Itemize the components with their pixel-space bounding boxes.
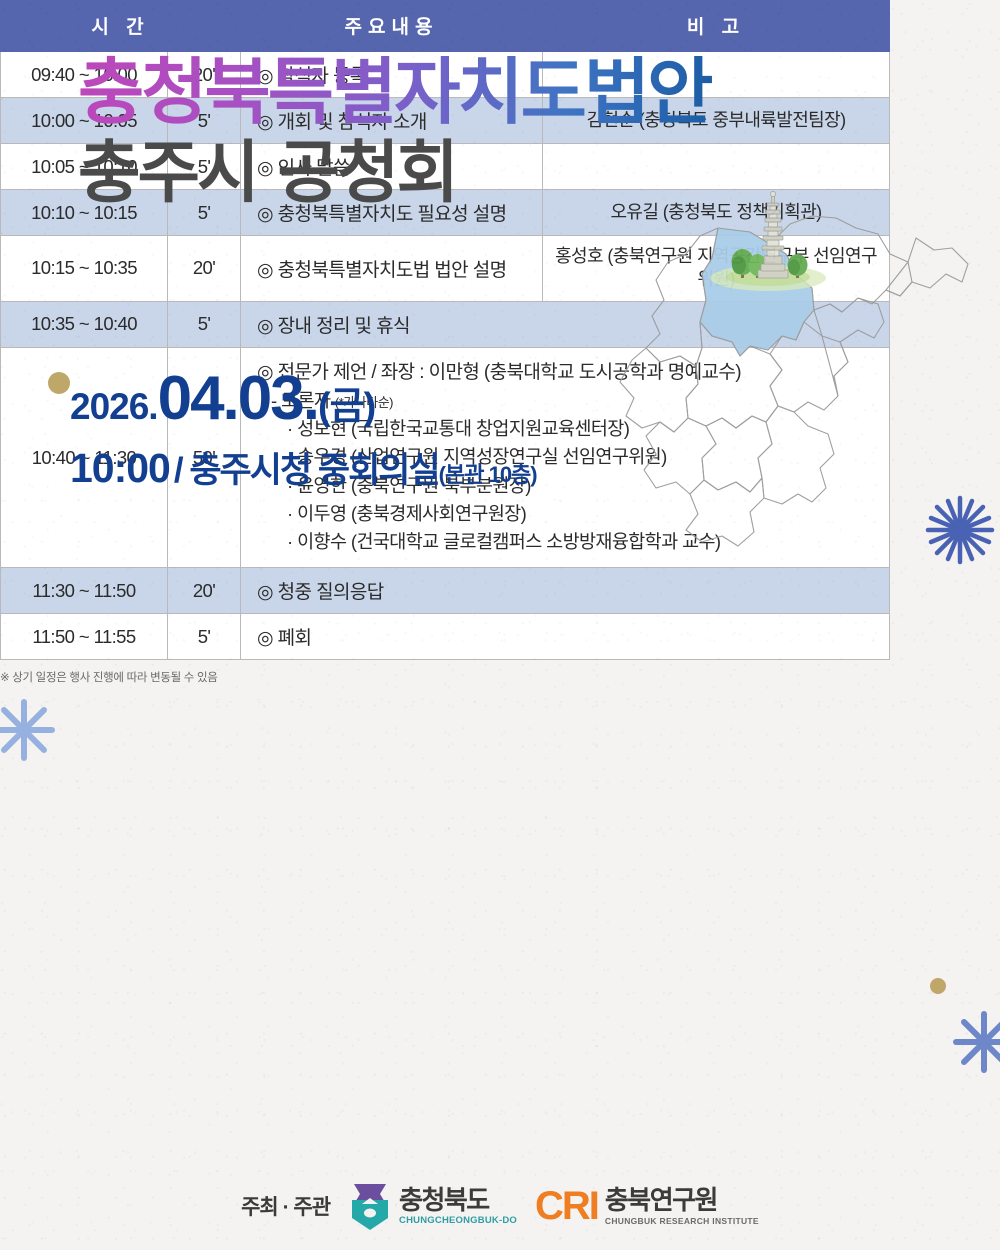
cri-mark-text: CRI (535, 1188, 598, 1224)
cell-time: 10:35 ~ 10:40 (1, 301, 168, 347)
table-row: 11:50 ~ 11:55 5' ◎ 폐회 (1, 614, 890, 660)
event-date-line: 2026. 04.03. (금) (70, 368, 537, 430)
decorative-dot-right (930, 978, 946, 994)
cell-time: 11:30 ~ 11:50 (1, 568, 168, 614)
event-time: 10:00 (70, 445, 170, 492)
event-time-venue-line: 10:00 / 충주시청 중회의실(본관 10층) (70, 442, 537, 493)
sparkle-icon-left (0, 698, 56, 767)
cell-time: 11:50 ~ 11:55 (1, 614, 168, 660)
logo-name-en: CHUNGCHEONGBUK-DO (399, 1216, 517, 1226)
cell-duration: 20' (168, 568, 241, 614)
column-header-content: 주요내용 (241, 1, 543, 52)
event-month-day: 04.03. (158, 368, 318, 430)
map-svg (590, 170, 990, 550)
venue-detail: (본관 10층) (439, 462, 537, 487)
decorative-dot (48, 372, 70, 394)
chungbuk-map-illustration (590, 170, 990, 550)
host-label: 주최 · 주관 (241, 1191, 330, 1221)
chungcheongbuk-do-mark-icon (348, 1180, 392, 1232)
sparkle-icon-right-top (924, 494, 996, 571)
cell-content: ◎ 충청북특별자치도법 법안 설명 (241, 236, 543, 302)
column-header-remark: 비 고 (543, 1, 890, 52)
cell-duration: 5' (168, 614, 241, 660)
column-header-time: 시 간 (1, 1, 241, 52)
event-day-of-week: (금) (318, 375, 375, 430)
chungcheongbuk-do-text: 충청북도 CHUNGCHEONGBUK-DO (399, 1187, 517, 1226)
page-title-primary: 충청북특별자치도법안 (44, 52, 864, 128)
table-header-row: 시 간 주요내용 비 고 (1, 1, 890, 52)
logo-chungcheongbuk-do: 충청북도 CHUNGCHEONGBUK-DO (348, 1180, 517, 1232)
logo-name-ko: 충청북도 (399, 1187, 517, 1213)
cri-text: 충북연구원 CHUNGBUK RESEARCH INSTITUTE (605, 1187, 759, 1226)
schedule-note: ※ 상기 일정은 행사 진행에 따라 변동될 수 있음 (0, 669, 890, 685)
logo-name-ko: 충북연구원 (605, 1187, 759, 1213)
footer-logos: 주최 · 주관 충청북도 CHUNGCHEONGBUK-DO CRI 충북연구원… (0, 1180, 1000, 1232)
title-accent-bar (44, 54, 59, 239)
event-datetime-block: 2026. 04.03. (금) 10:00 / 충주시청 중회의실(본관 10… (70, 368, 537, 493)
cell-duration: 20' (168, 236, 241, 302)
logo-name-en: CHUNGBUK RESEARCH INSTITUTE (605, 1217, 759, 1226)
cell-content: ◎ 폐회 (241, 614, 890, 660)
event-year: 2026. (70, 386, 158, 428)
venue-separator: / (174, 451, 182, 490)
sparkle-icon-right-bottom (952, 1010, 1000, 1079)
page-title-secondary: 충주시 공청회 (44, 140, 864, 208)
cell-content: ◎ 청중 질의응답 (241, 568, 890, 614)
cell-duration: 5' (168, 301, 241, 347)
event-venue: / 충주시청 중회의실(본관 10층) (174, 442, 537, 493)
table-row: 11:30 ~ 11:50 20' ◎ 청중 질의응답 (1, 568, 890, 614)
cell-time: 10:15 ~ 10:35 (1, 236, 168, 302)
logo-chungbuk-research-institute: CRI 충북연구원 CHUNGBUK RESEARCH INSTITUTE (535, 1187, 759, 1226)
poster-title: 충청북특별자치도법안 충주시 공청회 (44, 52, 864, 208)
venue-name: 충주시청 중회의실 (189, 451, 438, 490)
